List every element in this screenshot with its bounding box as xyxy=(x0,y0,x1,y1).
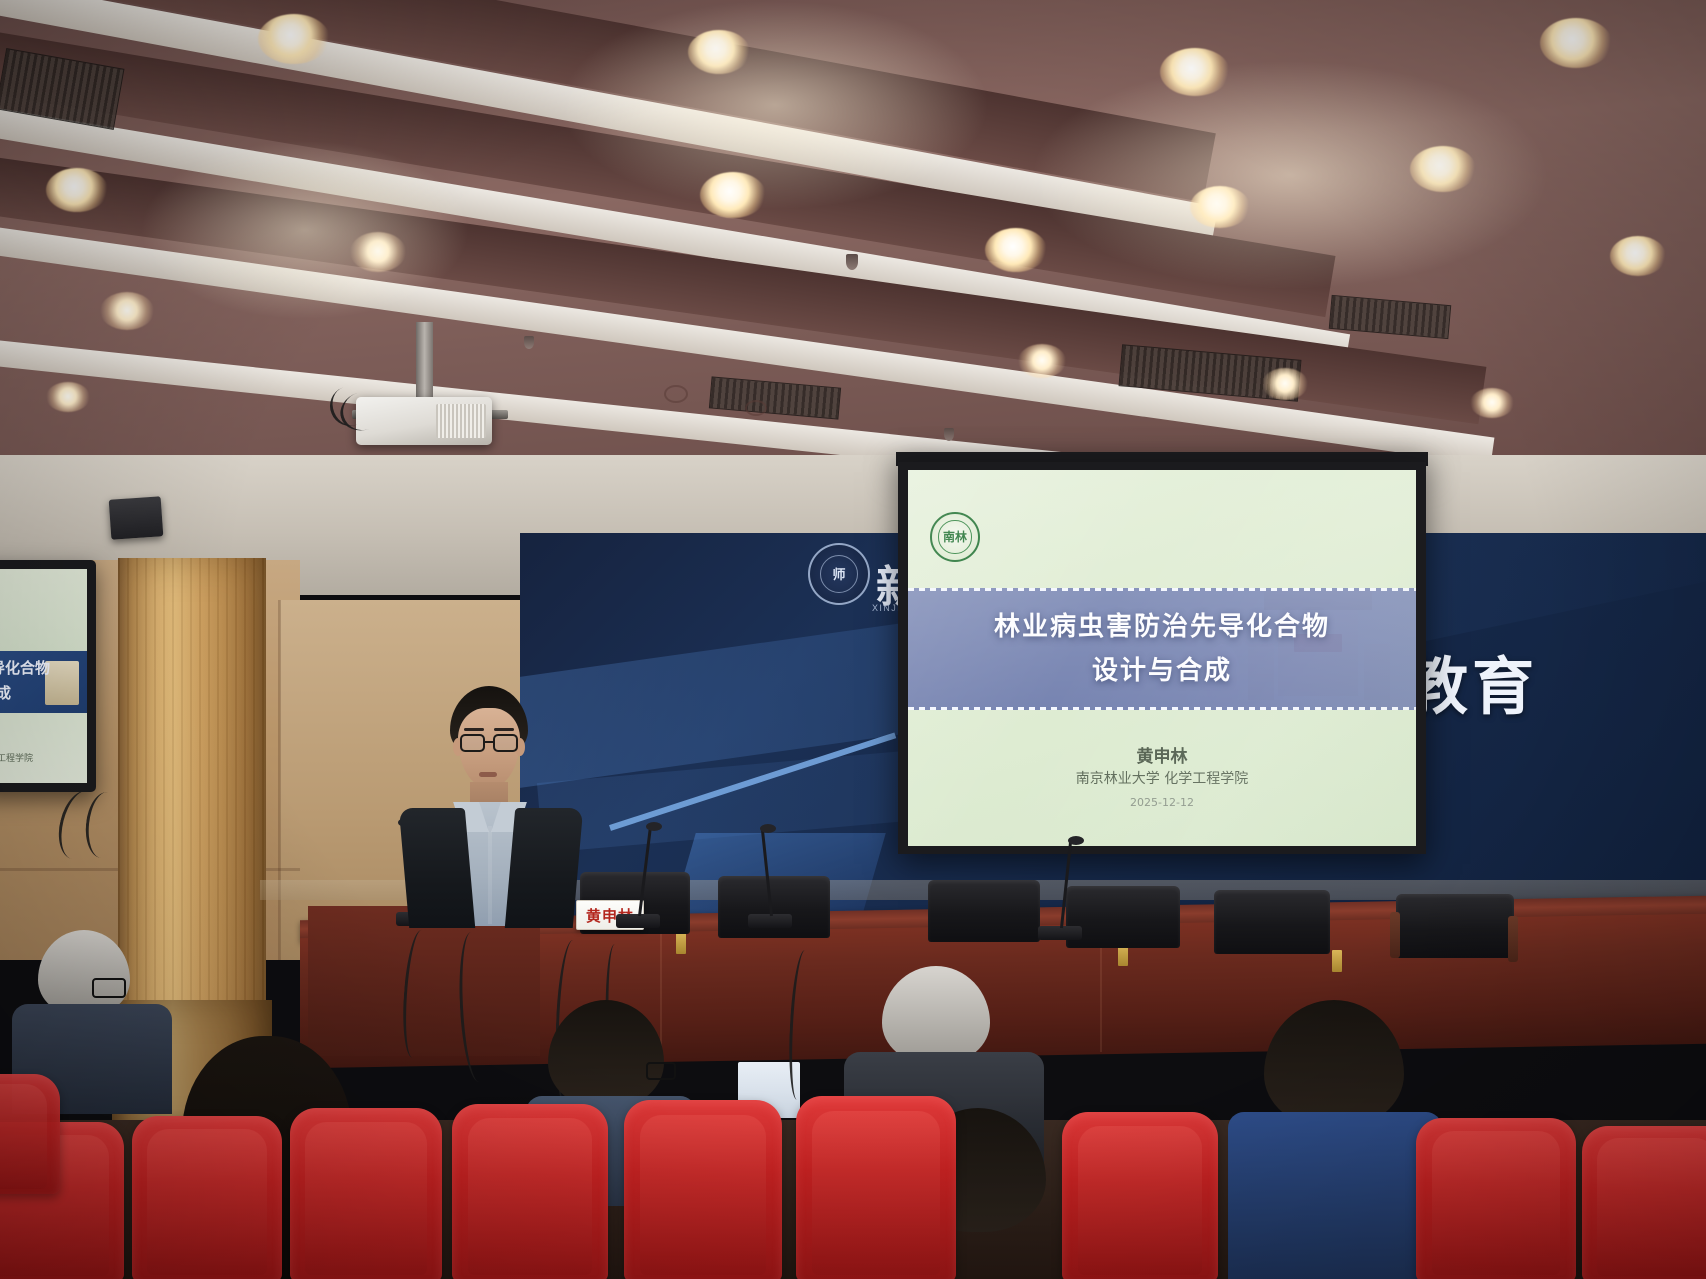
ceiling-light xyxy=(1262,368,1308,400)
auditorium-seat[interactable] xyxy=(1582,1126,1706,1279)
ceiling-light xyxy=(1410,146,1476,192)
slide-author-name: 黄申林 xyxy=(908,742,1416,767)
monitor-slide-graphic xyxy=(45,661,79,705)
emblem-center-label: 师 xyxy=(820,555,858,593)
presenter-jacket-right xyxy=(505,808,583,928)
ceiling-light xyxy=(100,292,154,330)
table-chair[interactable] xyxy=(1396,894,1514,958)
audience-member xyxy=(1240,1000,1430,1279)
chair-backrest xyxy=(928,880,1040,942)
mic-gooseneck xyxy=(761,828,773,916)
sprinkler-head xyxy=(846,254,858,270)
slide-affiliation: 南京林业大学 化学工程学院 xyxy=(908,768,1416,788)
projector-mount-pole xyxy=(416,322,433,408)
chair-backrest xyxy=(1214,890,1330,954)
university-logo-icon: 南林 xyxy=(930,512,980,562)
presenter-jacket-left xyxy=(399,808,475,928)
table-chair[interactable] xyxy=(928,880,1040,942)
presenter-glasses-right-lens xyxy=(493,734,518,752)
monitor-slide-footer: 化学工程学院 xyxy=(0,751,33,764)
chair-arm xyxy=(1390,912,1400,958)
ceiling-light xyxy=(1160,48,1230,96)
ceiling-light xyxy=(985,228,1047,272)
ceiling-light xyxy=(46,382,90,412)
table-panel-seam xyxy=(1100,940,1102,1052)
slide-title-line-1: 林业病虫害防治先导化合物 xyxy=(908,606,1416,643)
audience-head xyxy=(1264,1000,1404,1128)
chair-backrest xyxy=(1396,894,1514,958)
audience-body xyxy=(1228,1112,1442,1279)
university-emblem-icon: 师 xyxy=(808,543,870,605)
lecture-hall-photo: 20 师 新疆 XINJIANG NORMAL UNIVERSITY 教育 先导… xyxy=(0,0,1706,1279)
microphone xyxy=(742,824,802,928)
slide-date: 2025-12-12 xyxy=(908,796,1416,809)
presenter-eyebrow xyxy=(494,728,514,731)
air-vent xyxy=(709,376,841,419)
ceiling-light xyxy=(1540,18,1612,68)
ceiling-light xyxy=(1190,186,1250,228)
air-vent xyxy=(1329,295,1452,339)
ceiling-light-ring xyxy=(745,400,767,416)
audience-head xyxy=(548,1000,664,1108)
ceiling-light xyxy=(1610,236,1666,276)
mic-base xyxy=(616,914,660,928)
presenter-mouth xyxy=(479,772,497,777)
ceiling-light-ring xyxy=(664,385,688,403)
sprinkler-head xyxy=(944,428,954,441)
presenter-shirt-placket xyxy=(488,826,492,924)
auditorium-seat[interactable] xyxy=(1062,1112,1218,1279)
chair-arm xyxy=(1508,916,1518,962)
ceiling-light xyxy=(700,172,766,218)
wall-speaker-box xyxy=(109,496,164,540)
microphone xyxy=(610,820,670,928)
ceiling xyxy=(0,0,1706,470)
audience-head xyxy=(882,966,990,1064)
auditorium-seat[interactable] xyxy=(452,1104,608,1279)
audience-glasses xyxy=(646,1062,676,1080)
projector-vent xyxy=(436,404,486,438)
monitor-slide-title-2: 合成 xyxy=(0,682,11,703)
mic-gooseneck xyxy=(638,826,652,916)
audience-glasses xyxy=(92,978,126,998)
ceiling-light xyxy=(688,30,750,74)
wall-monitor: 先导化合物 合成 化学工程学院 xyxy=(0,560,96,792)
ceiling-light xyxy=(258,14,330,64)
mic-head xyxy=(760,824,776,833)
monitor-slide-title-1: 先导化合物 xyxy=(0,657,50,678)
presenter-glasses-bridge xyxy=(484,741,494,743)
ceiling-light xyxy=(46,168,108,212)
wall-seam xyxy=(278,600,281,960)
mic-gooseneck xyxy=(1060,840,1072,928)
auditorium-seat[interactable] xyxy=(1416,1118,1576,1279)
mic-head xyxy=(646,822,662,831)
ceiling-light xyxy=(350,232,406,272)
slide-title-line-2: 设计与合成 xyxy=(908,650,1416,687)
ceiling-light xyxy=(1018,344,1066,378)
ceiling-light xyxy=(1470,388,1514,418)
auditorium-seat[interactable] xyxy=(0,1074,60,1194)
presentation-slide: 南林 林业病虫害防治先导化合物 设计与合成 黄申林 南京林业大学 化学工程学院 … xyxy=(908,470,1416,846)
presenter-eyebrow xyxy=(464,728,484,731)
auditorium-seat[interactable] xyxy=(796,1096,956,1279)
mic-head xyxy=(1068,836,1084,845)
microphone xyxy=(1032,836,1092,940)
presenter-glasses-left-lens xyxy=(460,734,485,752)
auditorium-seat[interactable] xyxy=(290,1108,442,1279)
table-trim xyxy=(1332,950,1342,972)
logo-inner-label: 南林 xyxy=(938,520,971,553)
sprinkler-head xyxy=(524,336,534,349)
mic-base xyxy=(1038,926,1082,940)
auditorium-seat[interactable] xyxy=(132,1116,282,1279)
table-trim xyxy=(676,932,686,954)
projection-screen: 南林 林业病虫害防治先导化合物 设计与合成 黄申林 南京林业大学 化学工程学院 … xyxy=(908,470,1416,846)
wall-monitor-screen: 先导化合物 合成 化学工程学院 xyxy=(0,569,87,783)
presenter xyxy=(396,686,586,926)
auditorium-seat[interactable] xyxy=(624,1100,782,1279)
table-chair[interactable] xyxy=(1214,890,1330,954)
